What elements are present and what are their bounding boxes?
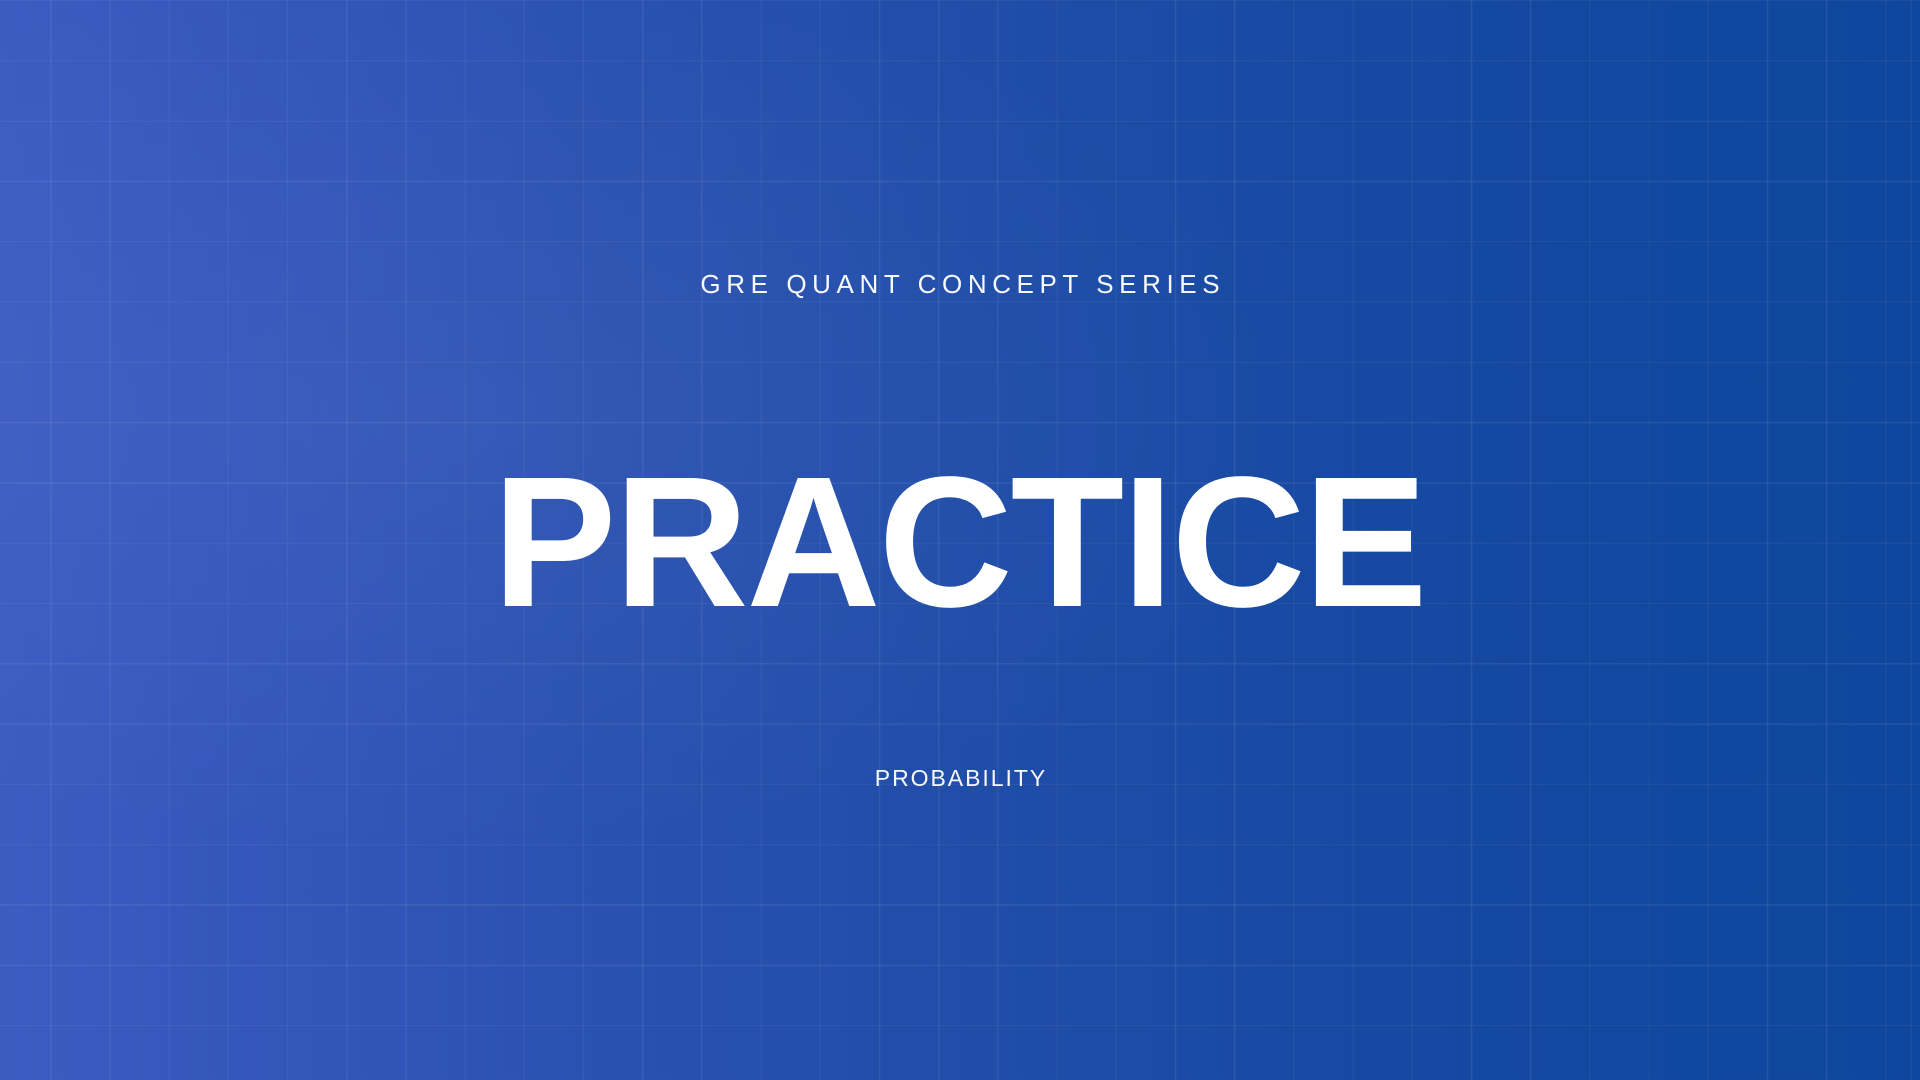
title-slide: GRE QUANT CONCEPT SERIES PRACTICE PROBAB… bbox=[0, 0, 1920, 1080]
slide-content: GRE QUANT CONCEPT SERIES PRACTICE PROBAB… bbox=[0, 0, 1920, 1080]
slide-title: PRACTICE bbox=[0, 448, 1920, 638]
series-eyebrow-label: GRE QUANT CONCEPT SERIES bbox=[0, 266, 1920, 302]
slide-subtitle-topic: PROBABILITY bbox=[0, 762, 1920, 794]
